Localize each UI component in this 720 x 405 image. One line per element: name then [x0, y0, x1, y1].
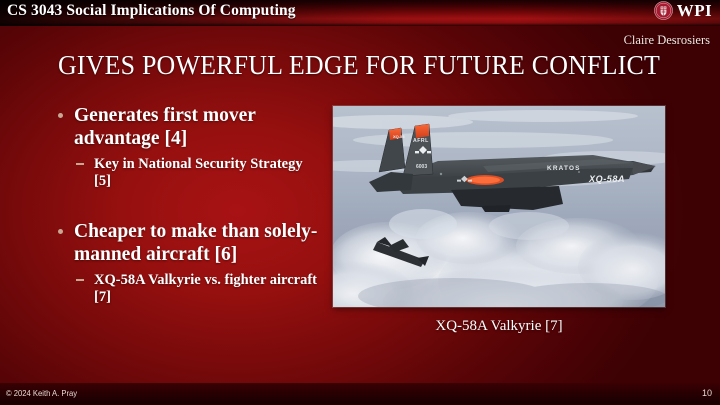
bullet-level1: Cheaper to make than solely-manned aircr… — [52, 220, 320, 266]
dot-bullet-icon — [58, 113, 63, 118]
bullet-level2: XQ-58A Valkyrie vs. fighter aircraft [7] — [52, 272, 320, 306]
footer-copyright: © 2024 Keith A. Pray — [6, 388, 77, 398]
bullet-level1-label: Cheaper to make than solely-manned aircr… — [74, 221, 317, 265]
bullet-level2: Key in National Security Strategy [5] — [52, 156, 320, 190]
presentation-slide: CS 3043 Social Implications Of Computing… — [0, 0, 720, 405]
bullet-level2-label: Key in National Security Strategy [5] — [94, 156, 303, 189]
wpi-logo: WPI — [654, 1, 712, 20]
slide-title: GIVES POWERFUL EDGE FOR FUTURE CONFLICT — [58, 50, 653, 81]
bullet-level1: Generates first mover advantage [4] — [52, 104, 320, 150]
dash-bullet-icon — [76, 279, 84, 281]
course-title: CS 3043 Social Implications Of Computing — [7, 2, 296, 20]
author-name: Claire Desrosiers — [624, 33, 710, 48]
valkyrie-photo: KRATOS XQ-58A XQ-58 AFRL 6003 — [333, 106, 665, 307]
photo-caption: XQ-58A Valkyrie [7] — [333, 318, 665, 335]
bullet-level2-label: XQ-58A Valkyrie vs. fighter aircraft [7] — [94, 272, 317, 305]
dot-bullet-icon — [58, 229, 63, 234]
bullet-level1-label: Generates first mover advantage [4] — [74, 105, 256, 149]
footer-page-number: 10 — [702, 388, 712, 398]
slide-body-content: Generates first mover advantage [4] Key … — [52, 104, 320, 308]
wpi-seal-icon — [654, 1, 673, 20]
slide-footer-bar: © 2024 Keith A. Pray 10 — [0, 383, 720, 405]
bullet-group: Cheaper to make than solely-manned aircr… — [52, 220, 320, 306]
wpi-wordmark: WPI — [677, 1, 712, 20]
dash-bullet-icon — [76, 163, 84, 165]
slide-header-bar: CS 3043 Social Implications Of Computing… — [0, 0, 720, 26]
valkyrie-photo-illustration: KRATOS XQ-58A XQ-58 AFRL 6003 — [333, 106, 665, 307]
bullet-group: Generates first mover advantage [4] Key … — [52, 104, 320, 190]
